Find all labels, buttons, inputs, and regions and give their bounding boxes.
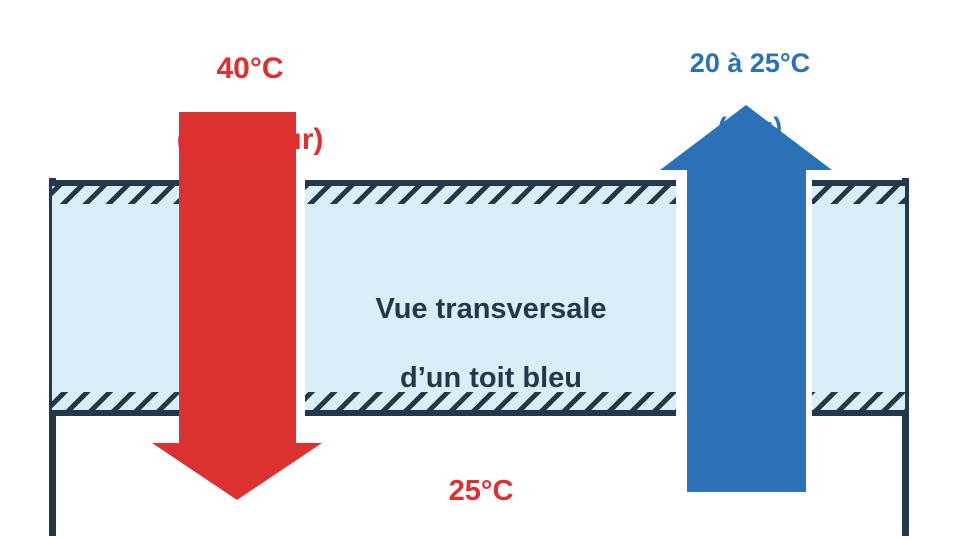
diagram-title: Vue transversale d’un toit bleu bbox=[320, 258, 662, 429]
cooling-flow-arrow-shaft bbox=[687, 170, 806, 492]
blue-roof-cross-section-diagram: 40°C (extérieur) 20 à 25°C (eau) Vue tra… bbox=[0, 0, 960, 540]
water-temperature-label: 20 à 25°C (eau) bbox=[632, 16, 868, 175]
exterior-temperature-label: 40°C (extérieur) bbox=[100, 16, 400, 193]
water-temperature-caption: (eau) bbox=[632, 112, 868, 144]
interior-temperature-value: 25°C bbox=[356, 474, 606, 508]
diagram-title-line1: Vue transversale bbox=[320, 292, 662, 326]
diagram-title-line2: d’un toit bleu bbox=[320, 361, 662, 395]
water-temperature-value: 20 à 25°C bbox=[632, 48, 868, 80]
right-segment-top-hatching bbox=[812, 180, 905, 204]
roof-segment-left bbox=[52, 180, 180, 416]
exterior-temperature-caption: (extérieur) bbox=[100, 122, 400, 157]
interior-temperature-label: 25°C (intérieur) bbox=[356, 440, 606, 540]
right-segment-bottom-rule bbox=[812, 410, 905, 416]
heat-flow-arrow-head bbox=[152, 443, 322, 500]
roof-segment-right bbox=[812, 180, 905, 416]
exterior-temperature-value: 40°C bbox=[100, 51, 400, 86]
left-segment-bottom-rule bbox=[52, 410, 180, 416]
